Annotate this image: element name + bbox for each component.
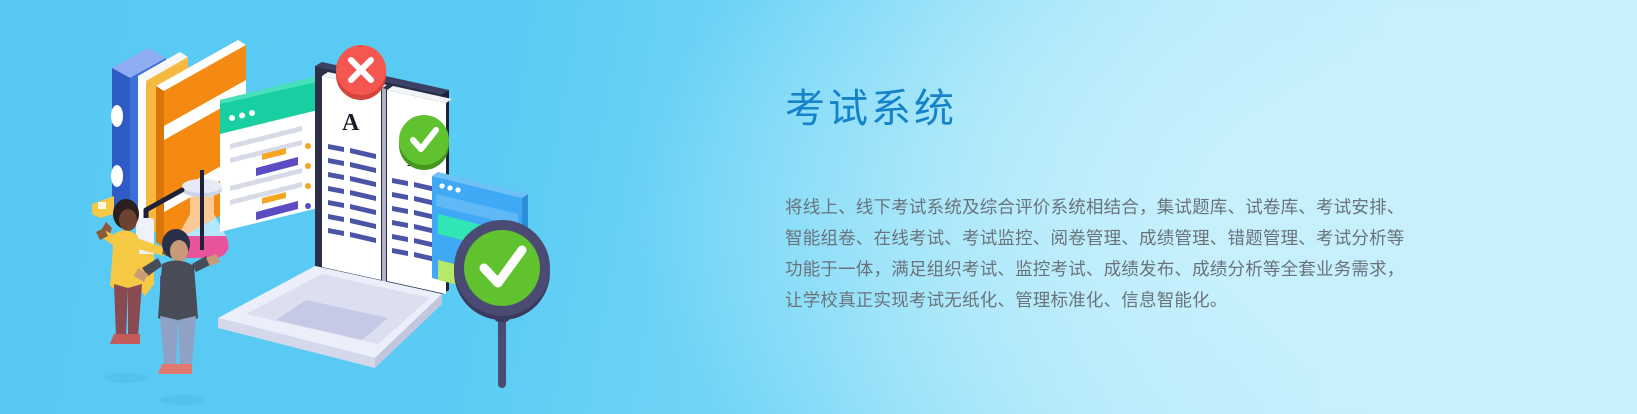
illustration-container: A B: [70, 18, 590, 408]
exam-system-banner: A B: [0, 0, 1637, 414]
badge-correct-icon: [399, 115, 449, 170]
page-title: 考试系统: [785, 84, 1505, 134]
magnifier-check-icon: [454, 220, 550, 388]
badge-wrong-icon: [336, 45, 386, 100]
page-description: 将线上、线下考试系统及综合评价系统相结合，集试题库、试卷库、考试安排、 智能组卷…: [785, 192, 1505, 316]
exam-system-illustration: A B: [70, 18, 590, 408]
description-line-3: 功能于一体，满足组织考试、监控考试、成绩发布、成绩分析等全套业务需求，: [785, 254, 1505, 285]
description-line-1: 将线上、线下考试系统及综合评价系统相结合，集试题库、试卷库、考试安排、: [785, 192, 1505, 223]
book-letter-a: A: [342, 110, 360, 136]
description-line-2: 智能组卷、在线考试、考试监控、阅卷管理、成绩管理、错题管理、考试分析等: [785, 223, 1505, 254]
teal-list-window-icon: [220, 76, 326, 232]
description-line-4: 让学校真正实现考试无纸化、管理标准化、信息智能化。: [785, 285, 1505, 316]
text-column: 考试系统 将线上、线下考试系统及综合评价系统相结合，集试题库、试卷库、考试安排、…: [785, 84, 1505, 316]
